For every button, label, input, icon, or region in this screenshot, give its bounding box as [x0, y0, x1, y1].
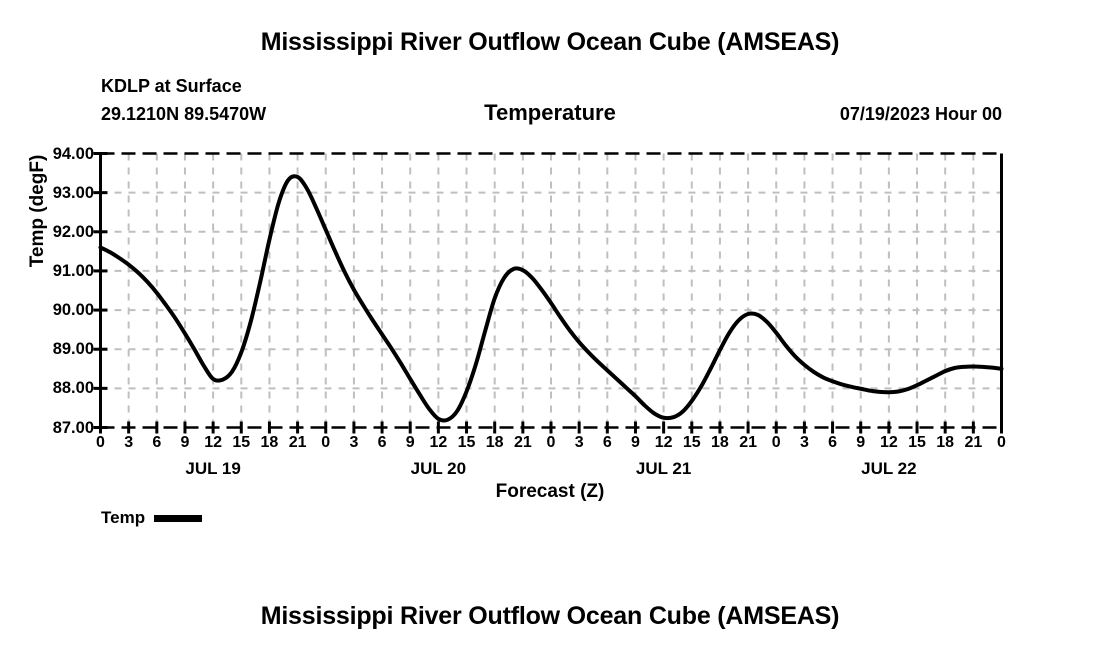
x-axis-tick-label: 0 — [536, 434, 566, 452]
plot-svg — [0, 0, 1100, 650]
x-axis-tick-label: 18 — [930, 434, 960, 452]
x-axis-tick-label: 0 — [761, 434, 791, 452]
y-axis-tick-label: 93.00 — [4, 184, 94, 203]
x-axis-tick-label: 0 — [86, 434, 116, 452]
y-axis-tick-labels: 94.0093.0092.0091.0090.0089.0088.0087.00 — [0, 0, 94, 650]
x-axis-tick-label: 15 — [226, 434, 256, 452]
y-axis-tick-label: 89.00 — [4, 340, 94, 359]
x-axis-tick-label: 6 — [367, 434, 397, 452]
x-axis-tick-label: 0 — [987, 434, 1017, 452]
legend: Temp — [101, 508, 202, 528]
y-axis-tick-label: 94.00 — [4, 145, 94, 164]
x-axis-tick-label: 6 — [592, 434, 622, 452]
x-axis-tick-label: 15 — [452, 434, 482, 452]
x-axis-day-label: JUL 21 — [604, 459, 724, 479]
x-axis-tick-label: 21 — [733, 434, 763, 452]
x-axis-tick-label: 9 — [620, 434, 650, 452]
x-axis-tick-label: 12 — [198, 434, 228, 452]
page-title-bottom: Mississippi River Outflow Ocean Cube (AM… — [0, 602, 1100, 631]
x-axis-day-label: JUL 20 — [378, 459, 498, 479]
x-axis-day-label: JUL 22 — [829, 459, 949, 479]
x-axis-tick-label: 12 — [649, 434, 679, 452]
x-axis-tick-label: 3 — [789, 434, 819, 452]
plot-area — [0, 0, 1100, 650]
legend-swatch-temp — [154, 515, 202, 522]
x-axis-tick-label: 21 — [958, 434, 988, 452]
y-axis-tick-label: 92.00 — [4, 223, 94, 242]
x-axis-tick-label: 0 — [311, 434, 341, 452]
x-axis-tick-label: 18 — [480, 434, 510, 452]
x-axis-tick-label: 9 — [170, 434, 200, 452]
x-axis-tick-label: 12 — [874, 434, 904, 452]
x-axis-tick-label: 18 — [254, 434, 284, 452]
chart-page: Mississippi River Outflow Ocean Cube (AM… — [0, 0, 1100, 650]
x-axis-tick-label: 6 — [818, 434, 848, 452]
x-axis-tick-label: 15 — [902, 434, 932, 452]
x-axis-tick-label: 9 — [846, 434, 876, 452]
x-axis-tick-label: 6 — [142, 434, 172, 452]
x-axis-tick-label: 3 — [339, 434, 369, 452]
x-axis-tick-label: 21 — [508, 434, 538, 452]
x-axis-tick-label: 3 — [114, 434, 144, 452]
x-axis-tick-label: 9 — [395, 434, 425, 452]
y-axis-tick-label: 90.00 — [4, 301, 94, 320]
x-axis-tick-label: 18 — [705, 434, 735, 452]
legend-label-temp: Temp — [101, 508, 145, 528]
y-axis-tick-label: 91.00 — [4, 262, 94, 281]
x-axis-day-label: JUL 19 — [153, 459, 273, 479]
x-axis-tick-label: 12 — [423, 434, 453, 452]
x-axis-tick-label: 15 — [677, 434, 707, 452]
x-axis-tick-label: 3 — [564, 434, 594, 452]
x-axis-tick-label: 21 — [283, 434, 313, 452]
y-axis-tick-label: 88.00 — [4, 379, 94, 398]
y-axis-tick-label: 87.00 — [4, 419, 94, 438]
